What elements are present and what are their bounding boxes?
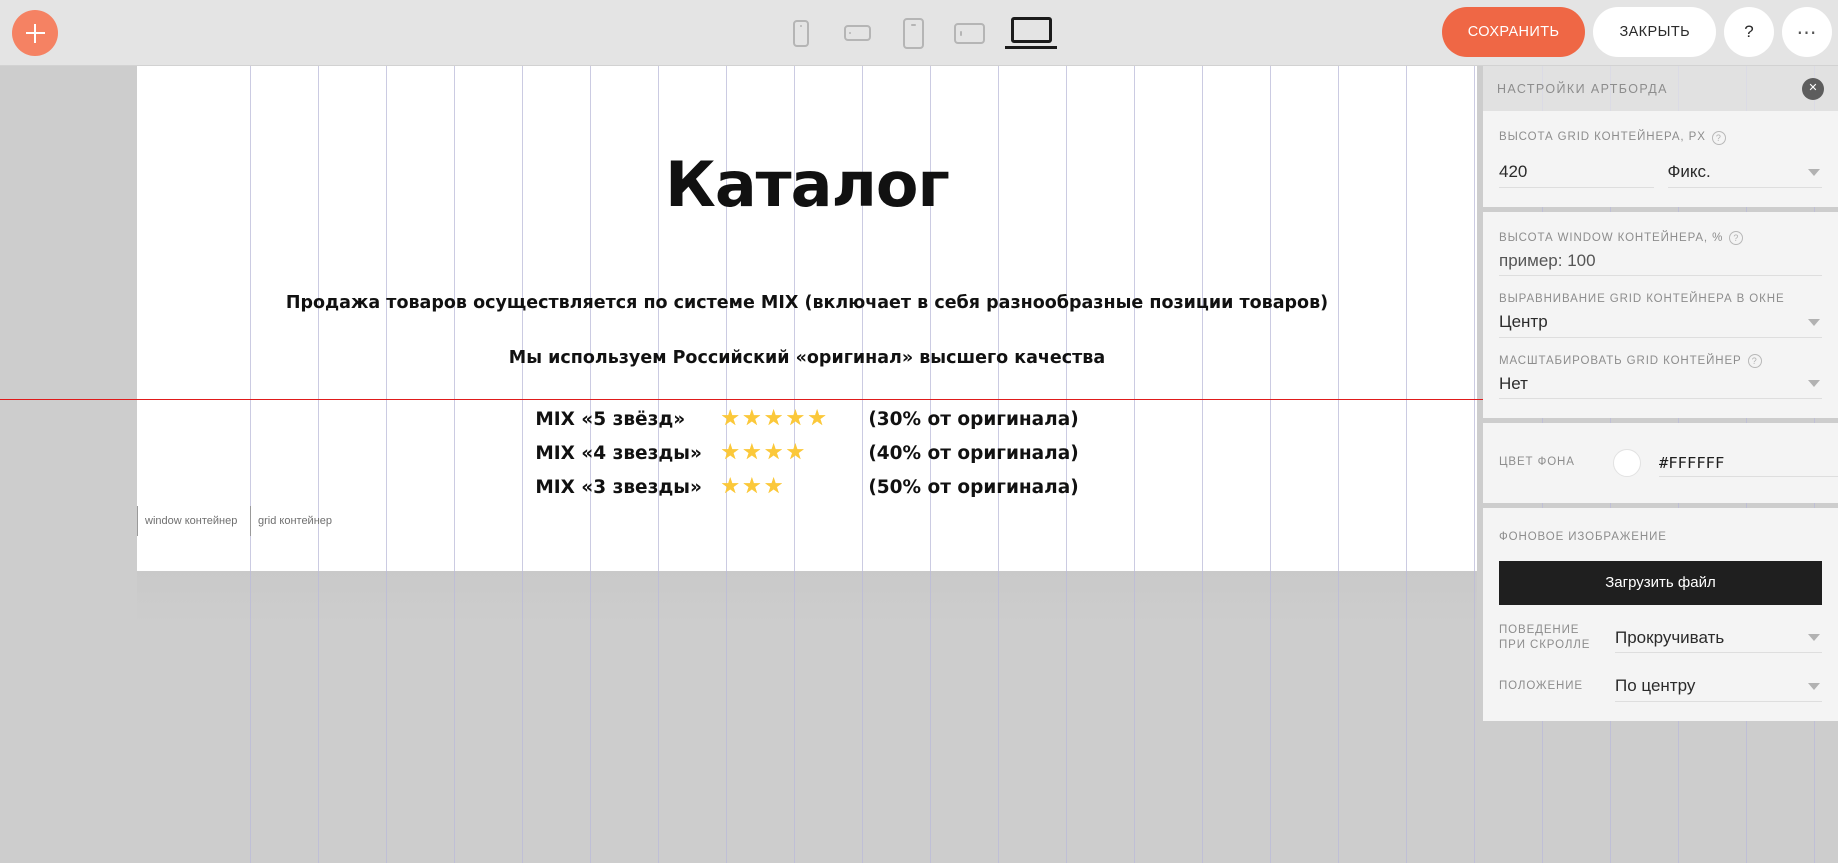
chevron-down-icon[interactable] [1808, 634, 1820, 641]
panel-title: НАСТРОЙКИ АРТБОРДА [1497, 82, 1668, 96]
star-icon: ★ [807, 408, 827, 430]
device-tablet-portrait-icon[interactable] [893, 10, 933, 56]
grid-container-label: grid контейнер [250, 506, 332, 536]
window-height-label-row: ВЫСОТА WINDOW КОНТЕЙНЕРА, % ? [1499, 231, 1822, 247]
tablet-landscape-frame [954, 23, 985, 44]
artboard-settings-panel: НАСТРОЙКИ АРТБОРДА ✕ ВЫСОТА GRID КОНТЕЙН… [1483, 66, 1838, 863]
more-options-button[interactable]: ⋯ [1782, 7, 1832, 57]
tablet-landscape-speaker-dot [960, 31, 962, 36]
mix-row: MIX «3 звезды»★★★(50% от оригинала) [137, 470, 1477, 504]
page-title[interactable]: Каталог [137, 148, 1477, 221]
toolbar-actions: СОХРАНИТЬ ЗАКРЫТЬ ? ⋯ [1442, 7, 1832, 57]
grid-height-input[interactable] [1499, 158, 1654, 188]
help-icon[interactable]: ? [1748, 354, 1762, 368]
panel-header: НАСТРОЙКИ АРТБОРДА ✕ [1483, 66, 1838, 111]
page-subtitle-2[interactable]: Мы используем Российский «оригинал» высш… [137, 348, 1477, 368]
help-icon[interactable]: ? [1729, 231, 1743, 245]
mix-row-label: MIX «3 звезды» [535, 477, 720, 498]
panel-body: ВЫСОТА GRID КОНТЕЙНЕРА, PX ? Фикс. ВЫСОТ… [1483, 111, 1838, 863]
star-icon: ★ [720, 408, 740, 430]
phone-portrait-speaker-dot [800, 25, 803, 28]
device-preview-switcher [781, 0, 1057, 66]
tablet-portrait-speaker-dot [911, 24, 916, 26]
star-icon: ★ [786, 442, 806, 464]
grid-align-label: ВЫРАВНИВАНИЕ GRID КОНТЕЙНЕРА В ОКНЕ [1499, 292, 1785, 308]
phone-portrait-frame [793, 20, 809, 47]
grid-scale-value[interactable]: Нет [1499, 369, 1822, 399]
phone-landscape-speaker-dot [849, 32, 852, 35]
page-subtitle-1[interactable]: Продажа товаров осуществляется по систем… [137, 293, 1477, 313]
scroll-behavior-label: ПОВЕДЕНИЕ ПРИ СКРОЛЛЕ [1499, 623, 1603, 654]
grid-align-value[interactable]: Центр [1499, 308, 1822, 338]
mix-row-percent: (50% от оригинала) [868, 477, 1078, 498]
star-icon: ★ [742, 408, 762, 430]
star-icon: ★ [720, 442, 740, 464]
mix-row-percent: (30% от оригинала) [868, 409, 1078, 430]
chevron-down-icon[interactable] [1808, 319, 1820, 326]
grid-align-select[interactable]: Центр [1499, 308, 1822, 338]
help-button[interactable]: ? [1724, 7, 1774, 57]
star-icon: ★ [720, 476, 740, 498]
add-block-button[interactable] [12, 10, 58, 56]
chevron-down-icon[interactable] [1808, 380, 1820, 387]
chevron-down-icon[interactable] [1808, 683, 1820, 690]
star-icon: ★ [764, 442, 784, 464]
grid-align-field: ВЫРАВНИВАНИЕ GRID КОНТЕЙНЕРА В ОКНЕ Цент… [1499, 292, 1822, 338]
background-color-label: ЦВЕТ ФОНА [1499, 455, 1595, 471]
mix-rating-list: MIX «5 звёзд»★★★★★(30% от оригинала)MIX … [137, 402, 1477, 504]
grid-height-mode-value[interactable]: Фикс. [1668, 158, 1823, 188]
help-icon[interactable]: ? [1712, 131, 1726, 145]
close-button[interactable]: ЗАКРЫТЬ [1593, 7, 1716, 57]
background-position-select[interactable]: По центру [1615, 672, 1822, 702]
star-icon: ★ [764, 476, 784, 498]
grid-scale-select[interactable]: Нет [1499, 369, 1822, 399]
background-color-card: ЦВЕТ ФОНА [1483, 423, 1838, 503]
window-settings-card: ВЫСОТА WINDOW КОНТЕЙНЕРА, % ? ВЫРАВНИВАН… [1483, 212, 1838, 419]
window-height-label: ВЫСОТА WINDOW КОНТЕЙНЕРА, % [1499, 231, 1723, 247]
background-color-hex-input[interactable] [1659, 449, 1838, 477]
desktop-base [1005, 46, 1057, 49]
background-position-field: ПОЛОЖЕНИЕ По центру [1499, 672, 1822, 702]
background-image-label: ФОНОВОЕ ИЗОБРАЖЕНИЕ [1499, 530, 1822, 546]
background-position-value[interactable]: По центру [1615, 672, 1822, 702]
scroll-behavior-field: ПОВЕДЕНИЕ ПРИ СКРОЛЛЕ Прокручивать [1499, 623, 1822, 654]
grid-height-controls: Фикс. [1499, 158, 1822, 188]
star-icon: ★ [742, 476, 762, 498]
background-color-row: ЦВЕТ ФОНА [1499, 449, 1822, 477]
mix-row-stars: ★★★★ [720, 442, 868, 464]
artboard-page-content: Каталог Продажа товаров осуществляется п… [137, 66, 1477, 571]
grid-scale-label-row: МАСШТАБИРОВАТЬ GRID КОНТЕЙНЕР ? [1499, 354, 1822, 370]
mix-row-stars: ★★★★★ [720, 408, 868, 430]
grid-height-label: ВЫСОТА GRID КОНТЕЙНЕРА, PX [1499, 130, 1706, 146]
device-phone-landscape-icon[interactable] [837, 10, 877, 56]
device-phone-portrait-icon[interactable] [781, 10, 821, 56]
grid-height-mode-select[interactable]: Фикс. [1668, 158, 1823, 188]
star-icon: ★ [786, 408, 806, 430]
window-container-lower-area [137, 571, 1477, 863]
grid-scale-label: МАСШТАБИРОВАТЬ GRID КОНТЕЙНЕР [1499, 354, 1742, 370]
device-desktop-icon[interactable] [1005, 10, 1057, 56]
mix-row: MIX «4 звезды»★★★★(40% от оригинала) [137, 436, 1477, 470]
mix-row-percent: (40% от оригинала) [868, 443, 1078, 464]
device-tablet-landscape-icon[interactable] [949, 10, 989, 56]
mix-row-label: MIX «5 звёзд» [535, 409, 720, 430]
grid-scale-field: МАСШТАБИРОВАТЬ GRID КОНТЕЙНЕР ? Нет [1499, 354, 1822, 400]
grid-height-card: ВЫСОТА GRID КОНТЕЙНЕРА, PX ? Фикс. [1483, 111, 1838, 207]
grid-height-label-row: ВЫСОТА GRID КОНТЕЙНЕРА, PX ? [1499, 130, 1822, 146]
color-swatch[interactable] [1613, 449, 1641, 477]
window-height-field: ВЫСОТА WINDOW КОНТЕЙНЕРА, % ? [1499, 231, 1822, 277]
chevron-down-icon[interactable] [1808, 169, 1820, 176]
artboard-editor-app: СОХРАНИТЬ ЗАКРЫТЬ ? ⋯ [0, 0, 1838, 863]
upload-file-button[interactable]: Загрузить файл [1499, 561, 1822, 605]
star-icon: ★ [742, 442, 762, 464]
close-panel-icon[interactable]: ✕ [1802, 78, 1824, 100]
mix-row-stars: ★★★ [720, 476, 868, 498]
background-image-card: ФОНОВОЕ ИЗОБРАЖЕНИЕ Загрузить файл ПОВЕД… [1483, 508, 1838, 721]
tablet-portrait-frame [903, 18, 924, 49]
mix-row: MIX «5 звёзд»★★★★★(30% от оригинала) [137, 402, 1477, 436]
scroll-behavior-value[interactable]: Прокручивать [1615, 623, 1822, 653]
desktop-frame [1011, 17, 1052, 43]
phone-landscape-frame [844, 25, 871, 41]
save-button[interactable]: СОХРАНИТЬ [1442, 7, 1586, 57]
grid-align-label-row: ВЫРАВНИВАНИЕ GRID КОНТЕЙНЕРА В ОКНЕ [1499, 292, 1822, 308]
top-toolbar: СОХРАНИТЬ ЗАКРЫТЬ ? ⋯ [0, 0, 1838, 66]
window-height-input[interactable] [1499, 246, 1822, 276]
mix-row-label: MIX «4 звезды» [535, 443, 720, 464]
star-icon: ★ [764, 408, 784, 430]
window-container-label: window контейнер [137, 506, 237, 536]
scroll-behavior-select[interactable]: Прокручивать [1615, 623, 1822, 653]
background-position-label: ПОЛОЖЕНИЕ [1499, 679, 1603, 695]
plus-icon-vertical [34, 24, 36, 43]
